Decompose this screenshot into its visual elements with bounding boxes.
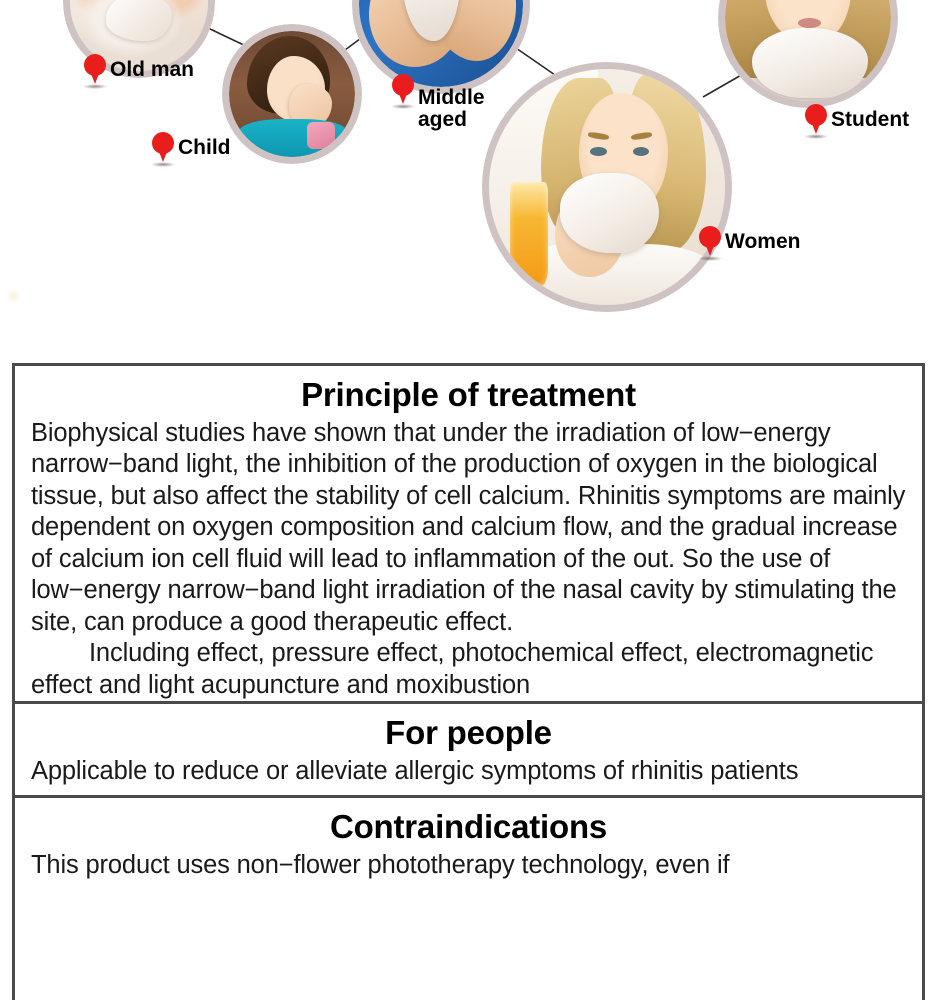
section-body-contraindications: This product uses non−flower phototherap… — [31, 850, 906, 881]
watermark-artifact — [6, 288, 22, 304]
marker-label-middle-aged: Middle aged — [418, 87, 485, 131]
section-title-principle: Principle of treatment — [31, 376, 906, 414]
map-pin-icon — [84, 54, 106, 86]
rhinitis-audience-infographic: Old man Child Middle aged Student Women — [0, 0, 950, 352]
product-info-panel: Principle of treatment Biophysical studi… — [12, 363, 925, 1000]
photo-circle-student — [718, 0, 898, 108]
section-body-for-people: Applicable to reduce or alleviate allerg… — [31, 756, 906, 787]
photo-circle-women — [482, 62, 732, 312]
marker-middle-aged: Middle aged — [392, 74, 485, 131]
map-pin-icon — [152, 132, 174, 164]
map-pin-icon — [699, 226, 721, 258]
marker-label-women: Women — [725, 231, 800, 253]
section-title-contraindications: Contraindications — [31, 808, 906, 846]
marker-women: Women — [699, 226, 800, 258]
section-body-principle-1: Biophysical studies have shown that unde… — [31, 418, 906, 638]
map-pin-icon — [392, 74, 414, 106]
section-contraindications: Contraindications This product uses non−… — [15, 795, 922, 881]
section-principle-of-treatment: Principle of treatment Biophysical studi… — [15, 366, 922, 701]
map-pin-icon — [805, 104, 827, 136]
marker-child: Child — [152, 132, 231, 164]
marker-label-child: Child — [178, 137, 231, 159]
marker-label-student: Student — [831, 109, 909, 131]
section-for-people: For people Applicable to reduce or allev… — [15, 701, 922, 787]
marker-old-man: Old man — [84, 54, 194, 86]
marker-student: Student — [805, 104, 909, 136]
section-title-for-people: For people — [31, 714, 906, 752]
marker-label-old-man: Old man — [110, 59, 194, 81]
photo-circle-child — [222, 24, 362, 164]
section-body-principle-2: Including effect, pressure effect, photo… — [31, 638, 906, 701]
